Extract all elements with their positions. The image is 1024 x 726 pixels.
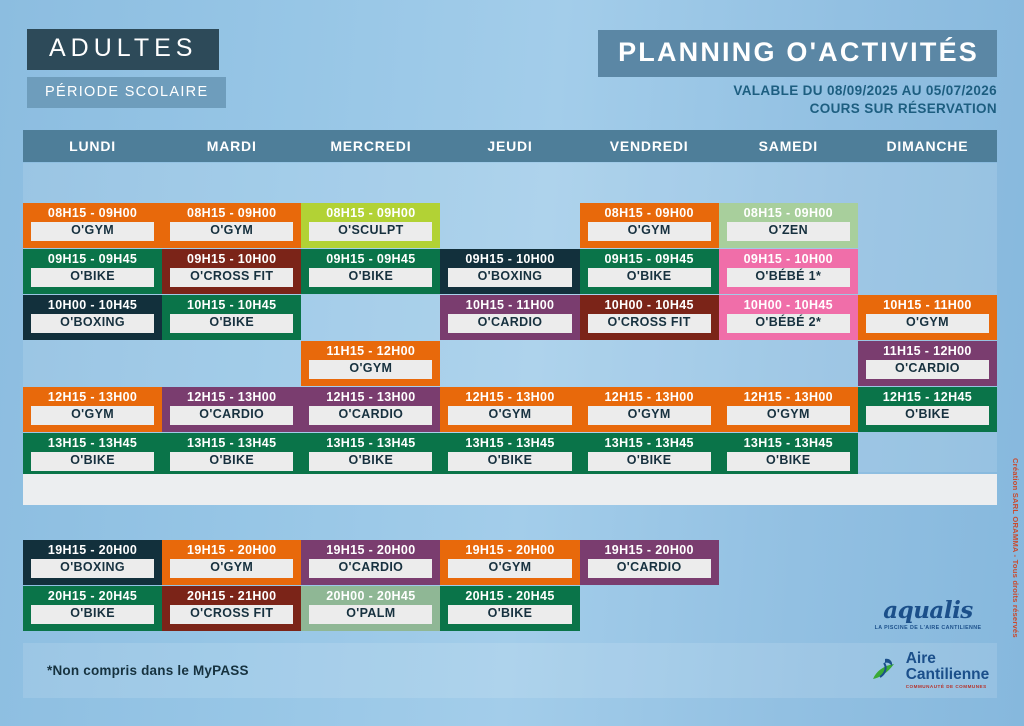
activity-slot[interactable]: 13H15 - 13H45O'BIKE: [719, 433, 858, 478]
activity-time: 13H15 - 13H45: [465, 436, 554, 450]
activity-slot[interactable]: 08H15 - 09H00O'GYM: [162, 203, 301, 248]
activity-name: O'GYM: [448, 559, 571, 577]
days-header-bar: LUNDI MARDI MERCREDI JEUDI VENDREDI SAME…: [23, 130, 997, 162]
activity-slot[interactable]: 12H15 - 13H00O'CARDIO: [162, 387, 301, 432]
activity-name: O'CROSS FIT: [588, 314, 711, 332]
activity-name: O'BOXING: [31, 314, 154, 332]
activity-block[interactable]: 19H15 - 20H00O'CARDIO: [580, 540, 719, 585]
activity-time: 13H15 - 13H45: [187, 436, 276, 450]
activity-time: 20H15 - 20H45: [465, 589, 554, 603]
activity-time: 19H15 - 20H00: [465, 543, 554, 557]
empty-slot: [719, 540, 858, 585]
activity-slot[interactable]: 10H00 - 10H45O'CROSS FIT: [580, 295, 719, 340]
aire-line-1: Aire: [906, 650, 936, 667]
activity-slot[interactable]: 13H15 - 13H45O'BIKE: [162, 433, 301, 478]
activity-block[interactable]: 09H15 - 10H00O'BÉBÉ 1*: [719, 249, 858, 294]
period-tag: PÉRIODE SCOLAIRE: [27, 77, 226, 108]
daytime-schedule-grid: 08H15 - 09H00O'GYM08H15 - 09H00O'GYM08H1…: [23, 163, 997, 503]
activity-block[interactable]: 09H15 - 09H45O'BIKE: [580, 249, 719, 294]
day-header-jeudi: JEUDI: [440, 130, 579, 162]
activity-block[interactable]: 10H15 - 11H00O'CARDIO: [440, 295, 579, 340]
empty-slot: [858, 249, 997, 294]
activity-time: 10H00 - 10H45: [604, 298, 693, 312]
activity-time: 12H15 - 13H00: [326, 390, 415, 404]
activity-block[interactable]: 13H15 - 13H45O'BIKE: [162, 433, 301, 478]
activity-name: O'CARDIO: [309, 406, 432, 424]
activity-name: O'BIKE: [588, 268, 711, 286]
activity-block[interactable]: 12H15 - 13H00O'GYM: [440, 387, 579, 432]
schedule-row: 12H15 - 13H00O'GYM12H15 - 13H00O'CARDIO1…: [23, 387, 997, 432]
activity-slot[interactable]: 19H15 - 20H00O'BOXING: [23, 540, 162, 585]
aire-wordmark: Aire Cantilienne COMMUNAUTÉ DE COMMUNES: [906, 651, 990, 690]
schedule-row: 13H15 - 13H45O'BIKE13H15 - 13H45O'BIKE13…: [23, 433, 997, 478]
reservation-note: COURS SUR RÉSERVATION: [733, 100, 997, 118]
activity-slot[interactable]: 13H15 - 13H45O'BIKE: [301, 433, 440, 478]
activity-slot[interactable]: 12H15 - 13H00O'GYM: [580, 387, 719, 432]
activity-block[interactable]: 12H15 - 13H00O'CARDIO: [162, 387, 301, 432]
activity-time: 13H15 - 13H45: [48, 436, 137, 450]
activity-slot[interactable]: 11H15 - 12H00O'GYM: [301, 341, 440, 386]
activity-block[interactable]: 08H15 - 09H00O'GYM: [580, 203, 719, 248]
activity-time: 09H15 - 10H00: [744, 252, 833, 266]
activity-slot[interactable]: 09H15 - 09H45O'BIKE: [580, 249, 719, 294]
activity-slot[interactable]: 20H15 - 20H45O'BIKE: [440, 586, 579, 631]
activity-time: 20H15 - 21H00: [187, 589, 276, 603]
activity-time: 19H15 - 20H00: [48, 543, 137, 557]
activity-time: 09H15 - 09H45: [604, 252, 693, 266]
activity-slot[interactable]: 20H15 - 21H00O'CROSS FIT: [162, 586, 301, 631]
activity-name: O'BIKE: [309, 268, 432, 286]
activity-name: O'CARDIO: [448, 314, 571, 332]
activity-time: 08H15 - 09H00: [604, 206, 693, 220]
activity-time: 10H00 - 10H45: [48, 298, 137, 312]
activity-time: 12H15 - 13H00: [744, 390, 833, 404]
activity-name: O'CARDIO: [588, 559, 711, 577]
activity-name: O'BIKE: [866, 406, 989, 424]
activity-name: O'BIKE: [170, 452, 293, 470]
activity-slot[interactable]: 13H15 - 13H45O'BIKE: [580, 433, 719, 478]
activity-name: O'BIKE: [31, 268, 154, 286]
activity-slot[interactable]: 10H15 - 11H00O'CARDIO: [440, 295, 579, 340]
activity-slot[interactable]: 12H15 - 13H00O'GYM: [23, 387, 162, 432]
activity-time: 10H15 - 10H45: [187, 298, 276, 312]
activity-block[interactable]: 08H15 - 09H00O'GYM: [162, 203, 301, 248]
footnote-text: *Non compris dans le MyPASS: [47, 663, 249, 678]
schedule-row: 10H00 - 10H45O'BOXING10H15 - 10H45O'BIKE…: [23, 295, 997, 340]
activity-block[interactable]: 12H15 - 13H00O'CARDIO: [301, 387, 440, 432]
activity-block[interactable]: 19H15 - 20H00O'GYM: [440, 540, 579, 585]
activity-name: O'GYM: [170, 559, 293, 577]
activity-name: O'GYM: [448, 406, 571, 424]
empty-slot: [858, 433, 997, 478]
activity-name: O'BIKE: [31, 605, 154, 623]
activity-name: O'PALM: [309, 605, 432, 623]
empty-slot: [301, 295, 440, 340]
activity-slot[interactable]: 13H15 - 13H45O'BIKE: [23, 433, 162, 478]
activity-time: 08H15 - 09H00: [326, 206, 415, 220]
activity-time: 12H15 - 12H45: [883, 390, 972, 404]
activity-time: 12H15 - 13H00: [604, 390, 693, 404]
schedule-row: 20H15 - 20H45O'BIKE20H15 - 21H00O'CROSS …: [23, 586, 997, 631]
activity-time: 10H00 - 10H45: [744, 298, 833, 312]
activity-block[interactable]: 11H15 - 12H00O'CARDIO: [858, 341, 997, 386]
activity-slot[interactable]: 10H15 - 11H00O'GYM: [858, 295, 997, 340]
empty-slot: [23, 341, 162, 386]
activity-slot[interactable]: 09H15 - 10H00O'BÉBÉ 1*: [719, 249, 858, 294]
activity-time: 08H15 - 09H00: [187, 206, 276, 220]
separator-band: [23, 474, 997, 505]
activity-name: O'CROSS FIT: [170, 268, 293, 286]
activity-slot[interactable]: 19H15 - 20H00O'CARDIO: [301, 540, 440, 585]
activity-time: 11H15 - 12H00: [883, 344, 972, 358]
aqualis-wordmark: aqualis: [883, 597, 973, 624]
activity-block[interactable]: 09H15 - 09H45O'BIKE: [23, 249, 162, 294]
activity-time: 12H15 - 13H00: [465, 390, 554, 404]
activity-slot[interactable]: 08H15 - 09H00O'GYM: [580, 203, 719, 248]
activity-block[interactable]: 13H15 - 13H45O'BIKE: [440, 433, 579, 478]
activity-time: 20H15 - 20H45: [48, 589, 137, 603]
activity-time: 20H00 - 20H45: [326, 589, 415, 603]
evening-schedule-grid: 19H15 - 20H00O'BOXING19H15 - 20H00O'GYM1…: [23, 540, 997, 643]
empty-slot: [580, 341, 719, 386]
aire-cantilienne-logo: Aire Cantilienne COMMUNAUTÉ DE COMMUNES: [870, 651, 986, 690]
activity-block[interactable]: 20H15 - 20H45O'BIKE: [23, 586, 162, 631]
activity-block[interactable]: 12H15 - 12H45O'BIKE: [858, 387, 997, 432]
activity-time: 08H15 - 09H00: [48, 206, 137, 220]
activity-block[interactable]: 19H15 - 20H00O'CARDIO: [301, 540, 440, 585]
activity-slot[interactable]: 19H15 - 20H00O'CARDIO: [580, 540, 719, 585]
activity-time: 12H15 - 13H00: [48, 390, 137, 404]
activity-block[interactable]: 10H00 - 10H45O'BÉBÉ 2*: [719, 295, 858, 340]
activity-block[interactable]: 20H00 - 20H45O'PALM: [301, 586, 440, 631]
aire-tagline: COMMUNAUTÉ DE COMMUNES: [906, 685, 990, 690]
activity-name: O'BIKE: [170, 314, 293, 332]
activity-name: O'ZEN: [727, 222, 850, 240]
activity-time: 09H15 - 09H45: [326, 252, 415, 266]
activity-block[interactable]: 13H15 - 13H45O'BIKE: [719, 433, 858, 478]
activity-name: O'GYM: [727, 406, 850, 424]
activity-slot[interactable]: 20H00 - 20H45O'PALM: [301, 586, 440, 631]
empty-slot: [440, 341, 579, 386]
poster-header: ADULTES PÉRIODE SCOLAIRE PLANNING O'ACTI…: [0, 0, 1024, 128]
day-header-mercredi: MERCREDI: [301, 130, 440, 162]
activity-slot[interactable]: 10H00 - 10H45O'BOXING: [23, 295, 162, 340]
activity-block[interactable]: 10H15 - 10H45O'BIKE: [162, 295, 301, 340]
activity-block[interactable]: 13H15 - 13H45O'BIKE: [23, 433, 162, 478]
day-header-lundi: LUNDI: [23, 130, 162, 162]
activity-name: O'GYM: [309, 360, 432, 378]
planning-poster: ADULTES PÉRIODE SCOLAIRE PLANNING O'ACTI…: [0, 0, 1024, 726]
activity-slot[interactable]: 19H15 - 20H00O'GYM: [162, 540, 301, 585]
activity-name: O'CARDIO: [309, 559, 432, 577]
activity-block[interactable]: 19H15 - 20H00O'BOXING: [23, 540, 162, 585]
activity-block[interactable]: 11H15 - 12H00O'GYM: [301, 341, 440, 386]
activity-slot[interactable]: 08H15 - 09H00O'ZEN: [719, 203, 858, 248]
activity-block[interactable]: 08H15 - 09H00O'GYM: [23, 203, 162, 248]
activity-name: O'GYM: [31, 406, 154, 424]
activity-slot[interactable]: 09H15 - 10H00O'CROSS FIT: [162, 249, 301, 294]
page-title: PLANNING O'ACTIVITÉS: [598, 30, 997, 77]
activity-name: O'BOXING: [448, 268, 571, 286]
activity-block[interactable]: 12H15 - 13H00O'GYM: [580, 387, 719, 432]
activity-block[interactable]: 13H15 - 13H45O'BIKE: [580, 433, 719, 478]
activity-time: 19H15 - 20H00: [187, 543, 276, 557]
schedule-row: 09H15 - 09H45O'BIKE09H15 - 10H00O'CROSS …: [23, 249, 997, 294]
empty-slot: [719, 586, 858, 631]
aqualis-tagline: LA PISCINE DE L'AIRE CANTILIENNE: [870, 625, 986, 631]
validity-block: VALABLE DU 08/09/2025 AU 05/07/2026 COUR…: [733, 82, 997, 118]
activity-slot[interactable]: 08H15 - 09H00O'GYM: [23, 203, 162, 248]
activity-time: 09H15 - 09H45: [48, 252, 137, 266]
activity-block[interactable]: 19H15 - 20H00O'GYM: [162, 540, 301, 585]
leaf-bird-icon: [867, 653, 901, 687]
activity-block[interactable]: 09H15 - 09H45O'BIKE: [301, 249, 440, 294]
schedule-row: 08H15 - 09H00O'GYM08H15 - 09H00O'GYM08H1…: [23, 203, 997, 248]
validity-dates: VALABLE DU 08/09/2025 AU 05/07/2026: [733, 82, 997, 100]
activity-slot[interactable]: 13H15 - 13H45O'BIKE: [440, 433, 579, 478]
activity-time: 19H15 - 20H00: [326, 543, 415, 557]
activity-name: O'BIKE: [309, 452, 432, 470]
activity-name: O'GYM: [170, 222, 293, 240]
activity-slot[interactable]: 10H15 - 10H45O'BIKE: [162, 295, 301, 340]
activity-slot[interactable]: 10H00 - 10H45O'BÉBÉ 2*: [719, 295, 858, 340]
activity-name: O'BIKE: [448, 605, 571, 623]
empty-slot: [858, 540, 997, 585]
activity-block[interactable]: 12H15 - 13H00O'GYM: [719, 387, 858, 432]
activity-block[interactable]: 10H00 - 10H45O'CROSS FIT: [580, 295, 719, 340]
empty-slot: [440, 203, 579, 248]
activity-slot[interactable]: 20H15 - 20H45O'BIKE: [23, 586, 162, 631]
activity-slot[interactable]: 12H15 - 12H45O'BIKE: [858, 387, 997, 432]
empty-slot: [162, 341, 301, 386]
activity-time: 11H15 - 12H00: [327, 344, 416, 358]
activity-slot[interactable]: 09H15 - 09H45O'BIKE: [23, 249, 162, 294]
empty-slot: [858, 203, 997, 248]
activity-slot[interactable]: 12H15 - 13H00O'GYM: [719, 387, 858, 432]
activity-time: 10H15 - 11H00: [883, 298, 972, 312]
activity-name: O'CROSS FIT: [170, 605, 293, 623]
activity-time: 09H15 - 10H00: [187, 252, 276, 266]
activity-name: O'BÉBÉ 2*: [727, 314, 850, 332]
activity-name: O'GYM: [866, 314, 989, 332]
activity-slot[interactable]: 19H15 - 20H00O'GYM: [440, 540, 579, 585]
activity-name: O'GYM: [588, 222, 711, 240]
empty-slot: [719, 341, 858, 386]
activity-name: O'BIKE: [727, 452, 850, 470]
activity-name: O'BIKE: [31, 452, 154, 470]
activity-time: 08H15 - 09H00: [744, 206, 833, 220]
activity-slot[interactable]: 12H15 - 13H00O'CARDIO: [301, 387, 440, 432]
activity-name: O'GYM: [588, 406, 711, 424]
activity-slot[interactable]: 09H15 - 10H00O'BOXING: [440, 249, 579, 294]
activity-time: 13H15 - 13H45: [326, 436, 415, 450]
activity-block[interactable]: 08H15 - 09H00O'ZEN: [719, 203, 858, 248]
activity-block[interactable]: 08H15 - 09H00O'SCULPT: [301, 203, 440, 248]
activity-time: 13H15 - 13H45: [744, 436, 833, 450]
day-header-vendredi: VENDREDI: [580, 130, 719, 162]
day-header-samedi: SAMEDI: [719, 130, 858, 162]
activity-block[interactable]: 13H15 - 13H45O'BIKE: [301, 433, 440, 478]
activity-name: O'BIKE: [448, 452, 571, 470]
activity-name: O'BIKE: [588, 452, 711, 470]
day-header-mardi: MARDI: [162, 130, 301, 162]
activity-name: O'BÉBÉ 1*: [727, 268, 850, 286]
activity-slot[interactable]: 11H15 - 12H00O'CARDIO: [858, 341, 997, 386]
activity-block[interactable]: 09H15 - 10H00O'BOXING: [440, 249, 579, 294]
aqualis-logo: aqualis: [870, 599, 986, 622]
logo-group: aqualis LA PISCINE DE L'AIRE CANTILIENNE…: [870, 599, 986, 690]
activity-time: 10H15 - 11H00: [466, 298, 555, 312]
activity-block[interactable]: 20H15 - 21H00O'CROSS FIT: [162, 586, 301, 631]
activity-block[interactable]: 10H00 - 10H45O'BOXING: [23, 295, 162, 340]
activity-slot[interactable]: 12H15 - 13H00O'GYM: [440, 387, 579, 432]
activity-block[interactable]: 20H15 - 20H45O'BIKE: [440, 586, 579, 631]
activity-slot[interactable]: 09H15 - 09H45O'BIKE: [301, 249, 440, 294]
credit-text: Création SARL ORAMMA - Tous droits réser…: [1011, 458, 1020, 638]
schedule-row: 11H15 - 12H00O'GYM11H15 - 12H00O'CARDIO: [23, 341, 997, 386]
audience-tag: ADULTES: [27, 29, 219, 70]
activity-time: 13H15 - 13H45: [604, 436, 693, 450]
activity-time: 12H15 - 13H00: [187, 390, 276, 404]
day-header-dimanche: DIMANCHE: [858, 130, 997, 162]
activity-block[interactable]: 09H15 - 10H00O'CROSS FIT: [162, 249, 301, 294]
activity-name: O'CARDIO: [170, 406, 293, 424]
activity-name: O'CARDIO: [866, 360, 989, 378]
activity-name: O'BOXING: [31, 559, 154, 577]
activity-name: O'GYM: [31, 222, 154, 240]
aire-line-2: Cantilienne: [906, 666, 990, 683]
activity-name: O'SCULPT: [309, 222, 432, 240]
activity-slot[interactable]: 08H15 - 09H00O'SCULPT: [301, 203, 440, 248]
activity-time: 09H15 - 10H00: [465, 252, 554, 266]
schedule-row: 19H15 - 20H00O'BOXING19H15 - 20H00O'GYM1…: [23, 540, 997, 585]
empty-slot: [580, 586, 719, 631]
activity-time: 19H15 - 20H00: [604, 543, 693, 557]
activity-block[interactable]: 12H15 - 13H00O'GYM: [23, 387, 162, 432]
activity-block[interactable]: 10H15 - 11H00O'GYM: [858, 295, 997, 340]
